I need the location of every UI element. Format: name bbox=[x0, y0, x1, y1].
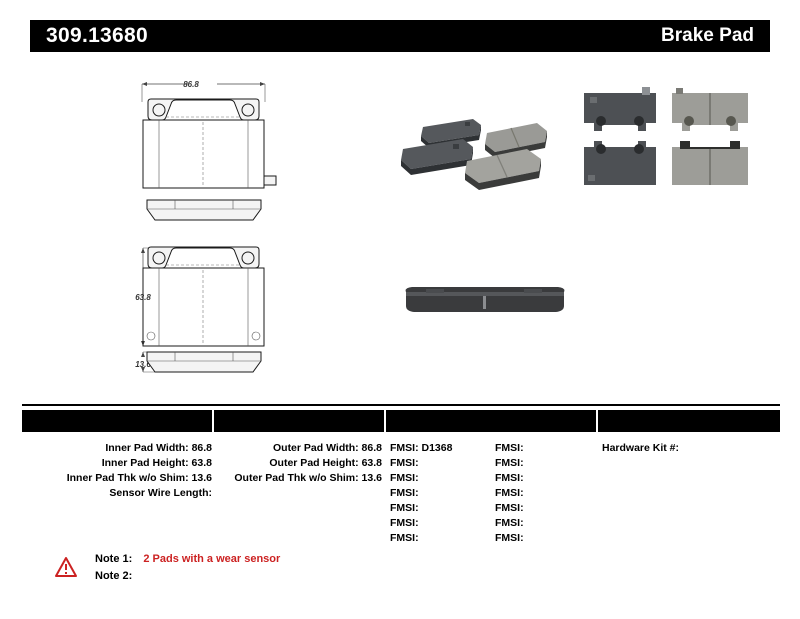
table-top-rule bbox=[22, 404, 780, 406]
spec-row: Outer Pad Width: 86.8 bbox=[212, 441, 382, 456]
fmsi-row: FMSI: bbox=[390, 456, 452, 471]
column-header-fmsi: FMSI # bbox=[386, 0, 594, 22]
warning-icon bbox=[55, 557, 77, 577]
spec-row: Inner Pad Width: 86.8 bbox=[22, 441, 212, 456]
spec-row: Sensor Wire Length: bbox=[22, 486, 212, 501]
fmsi-row: FMSI: bbox=[495, 531, 524, 546]
column-separator-1 bbox=[212, 410, 214, 432]
note-2-label: Note 2: bbox=[95, 570, 132, 582]
fmsi-row: FMSI: bbox=[495, 471, 524, 486]
fmsi-row: FMSI: bbox=[495, 486, 524, 501]
fmsi-row: FMSI: bbox=[390, 516, 452, 531]
width-dimension-label: 86.8 bbox=[183, 80, 199, 89]
note-2-row: Note 2: bbox=[95, 570, 140, 582]
inner-specs-body: Inner Pad Width: 86.8 Inner Pad Height: … bbox=[22, 441, 212, 501]
fmsi-row: FMSI: bbox=[390, 501, 452, 516]
column-header-outer-specs: Outer Brake Pads Specs bbox=[214, 0, 382, 22]
related-part-row: Hardware Kit #: bbox=[602, 441, 679, 456]
table-header-bar bbox=[22, 410, 780, 432]
title-bar-middle-block bbox=[390, 20, 630, 52]
outer-specs-body: Outer Pad Width: 86.8 Outer Pad Height: … bbox=[212, 441, 382, 486]
front-view-drawing: 63.8 13.6 bbox=[115, 228, 345, 378]
fmsi-row: FMSI: bbox=[495, 516, 524, 531]
note-1-row: Note 1: 2 Pads with a wear sensor bbox=[95, 553, 280, 565]
fmsi-row: FMSI: D1368 bbox=[390, 441, 452, 456]
brake-pads-photo-angled bbox=[395, 105, 560, 190]
brake-pad-photo-edge bbox=[400, 278, 570, 320]
fmsi-body-right: FMSI: FMSI: FMSI: FMSI: FMSI: FMSI: FMSI… bbox=[495, 441, 524, 546]
brake-pads-photo-grid bbox=[580, 85, 770, 190]
spec-row: Outer Pad Thk w/o Shim: 13.6 bbox=[212, 471, 382, 486]
fmsi-row: FMSI: bbox=[495, 441, 524, 456]
related-parts-body: Hardware Kit #: bbox=[602, 441, 679, 456]
column-header-inner-specs: Inner Brake Pads Specs bbox=[22, 0, 212, 22]
fmsi-row: FMSI: bbox=[495, 456, 524, 471]
note-1-value: 2 Pads with a wear sensor bbox=[143, 553, 280, 565]
spec-row: Outer Pad Height: 63.8 bbox=[212, 456, 382, 471]
spec-row: Inner Pad Thk w/o Shim: 13.6 bbox=[22, 471, 212, 486]
column-separator-3 bbox=[596, 410, 598, 432]
spec-row: Inner Pad Height: 63.8 bbox=[22, 456, 212, 471]
fmsi-body-left: FMSI: D1368 FMSI: FMSI: FMSI: FMSI: FMSI… bbox=[390, 441, 452, 546]
note-1-label: Note 1: bbox=[95, 553, 132, 565]
top-view-drawing: StopTech 86.8 bbox=[115, 72, 345, 227]
fmsi-row: FMSI: bbox=[390, 486, 452, 501]
product-type-label: Brake Pad bbox=[661, 25, 754, 47]
column-header-related-parts: Related Parts bbox=[598, 0, 780, 22]
title-bar: 309.13680 Brake Pad bbox=[30, 20, 770, 52]
part-number: 309.13680 bbox=[46, 24, 148, 48]
fmsi-row: FMSI: bbox=[390, 471, 452, 486]
fmsi-row: FMSI: bbox=[495, 501, 524, 516]
fmsi-row: FMSI: bbox=[390, 531, 452, 546]
column-separator-2 bbox=[384, 410, 386, 432]
